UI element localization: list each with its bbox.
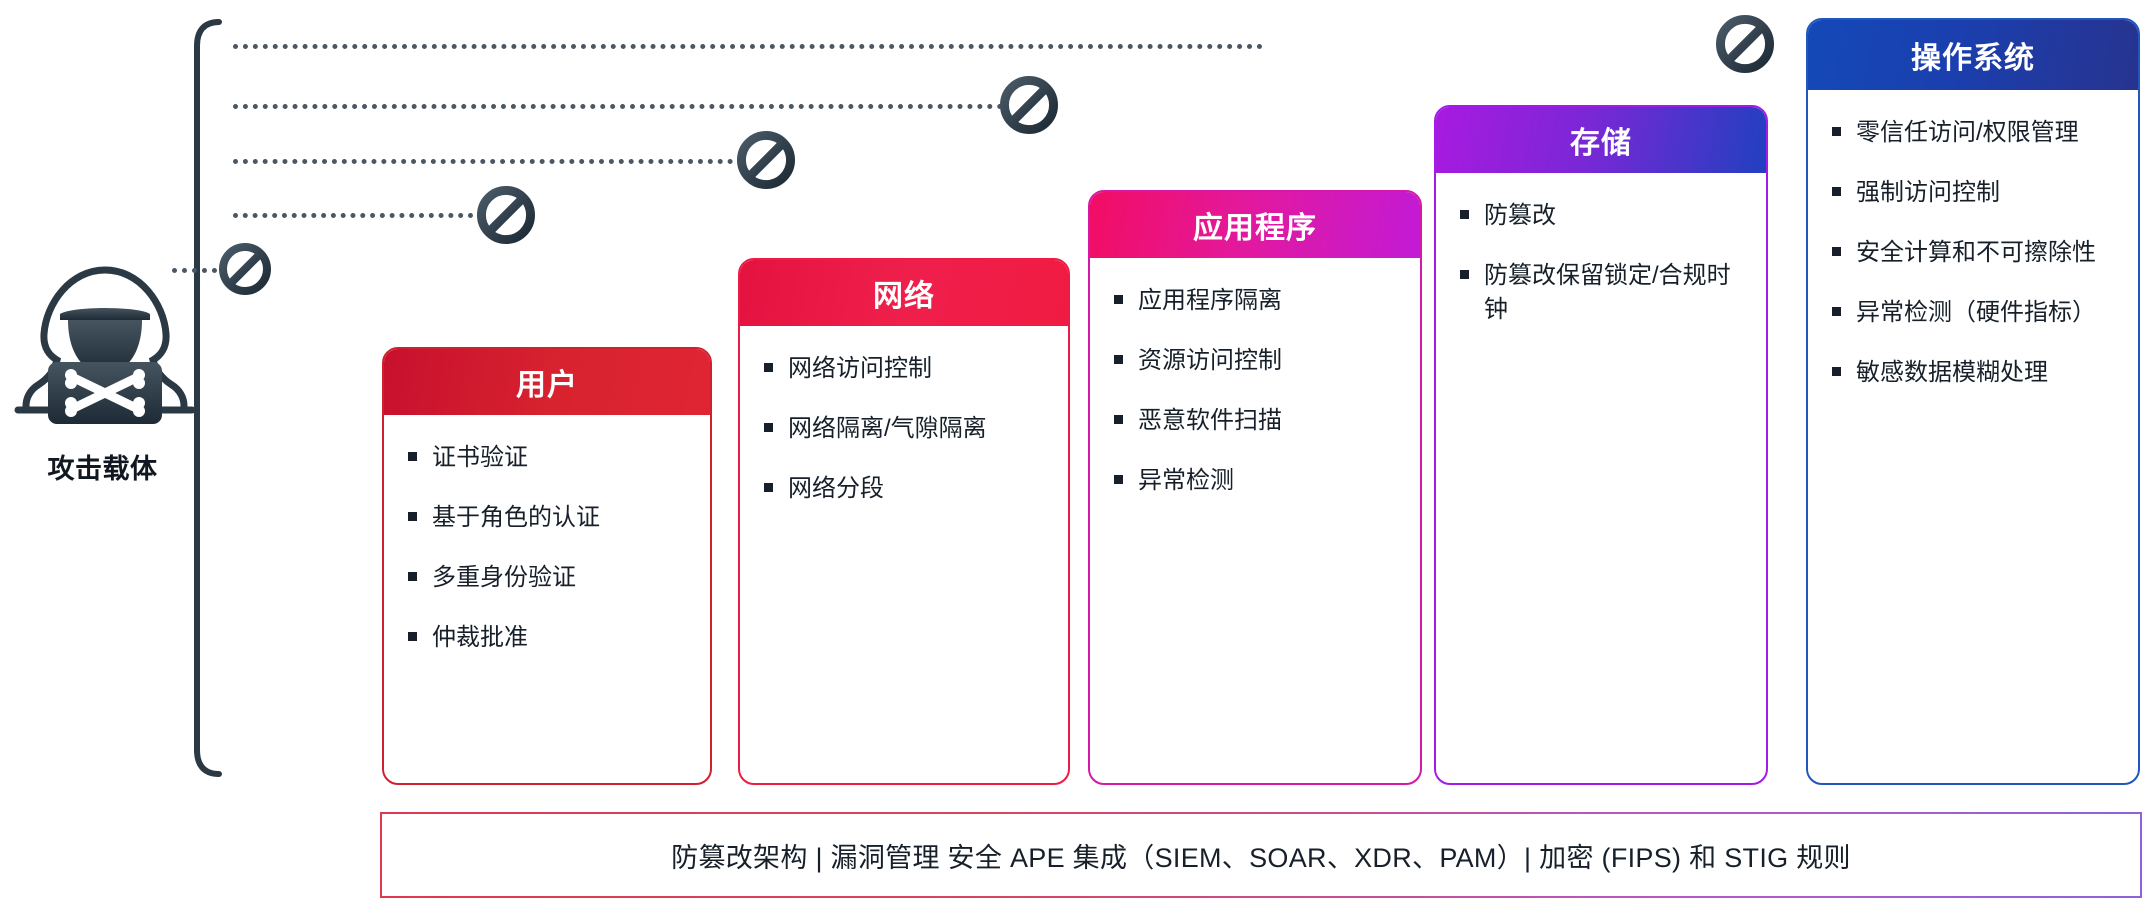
list-item: 网络分段 [762,472,1048,506]
attack-path-storage [233,104,1003,109]
layer-card-storage[interactable]: 存储 防篡改 防篡改保留锁定/合规时钟 [1434,105,1768,785]
no-entry-icon-application [737,131,795,189]
foundation-banner: 防篡改架构 | 漏洞管理 安全 APE 集成（SIEM、SOAR、XDR、PAM… [380,812,2142,898]
layer-items-storage: 防篡改 防篡改保留锁定/合规时钟 [1436,173,1766,783]
layer-items-network: 网络访问控制 网络隔离/气隙隔离 网络分段 [740,326,1068,783]
list-item: 异常检测（硬件指标） [1830,296,2118,330]
list-item: 异常检测 [1112,464,1400,498]
list-item: 防篡改 [1458,199,1746,233]
no-entry-icon-network [477,186,535,244]
list-item: 强制访问控制 [1830,176,2118,210]
list-item: 网络隔离/气隙隔离 [762,412,1048,446]
attack-path-network [233,213,483,218]
list-item: 安全计算和不可擦除性 [1830,236,2118,270]
list-item: 资源访问控制 [1112,344,1400,378]
layer-card-user[interactable]: 用户 证书验证 基于角色的认证 多重身份验证 仲裁批准 [382,347,712,785]
attack-path-app [233,159,743,164]
layer-title-network: 网络 [740,260,1068,326]
layer-items-application: 应用程序隔离 资源访问控制 恶意软件扫描 异常检测 [1090,258,1420,783]
attack-path-os [233,44,1263,49]
attacker-label: 攻击载体 [0,447,205,486]
layer-title-storage: 存储 [1436,107,1766,173]
foundation-text: 防篡改架构 | 漏洞管理 安全 APE 集成（SIEM、SOAR、XDR、PAM… [671,836,1851,875]
list-item: 零信任访问/权限管理 [1830,116,2118,150]
list-item: 防篡改保留锁定/合规时钟 [1458,259,1746,327]
list-item: 恶意软件扫描 [1112,404,1400,438]
hacker-icon [10,252,200,442]
layer-title-os: 操作系统 [1808,20,2138,90]
no-entry-icon-os [1716,15,1774,73]
no-entry-icon-storage [1000,76,1058,134]
layer-items-user: 证书验证 基于角色的认证 多重身份验证 仲裁批准 [384,415,710,783]
layer-title-application: 应用程序 [1090,192,1420,258]
list-item: 仲裁批准 [406,621,690,655]
layer-card-os[interactable]: 操作系统 零信任访问/权限管理 强制访问控制 安全计算和不可擦除性 异常检测（硬… [1806,18,2140,785]
list-item: 网络访问控制 [762,352,1048,386]
list-item: 应用程序隔离 [1112,284,1400,318]
scope-bracket [185,18,225,778]
list-item: 多重身份验证 [406,561,690,595]
diagram-canvas: 攻击载体 [0,0,2146,916]
list-item: 敏感数据模糊处理 [1830,356,2118,390]
layer-title-user: 用户 [384,349,710,415]
no-entry-icon-user [219,243,271,295]
layer-card-application[interactable]: 应用程序 应用程序隔离 资源访问控制 恶意软件扫描 异常检测 [1088,190,1422,785]
list-item: 证书验证 [406,441,690,475]
layer-card-network[interactable]: 网络 网络访问控制 网络隔离/气隙隔离 网络分段 [738,258,1070,785]
list-item: 基于角色的认证 [406,501,690,535]
layer-items-os: 零信任访问/权限管理 强制访问控制 安全计算和不可擦除性 异常检测（硬件指标） … [1808,90,2138,783]
